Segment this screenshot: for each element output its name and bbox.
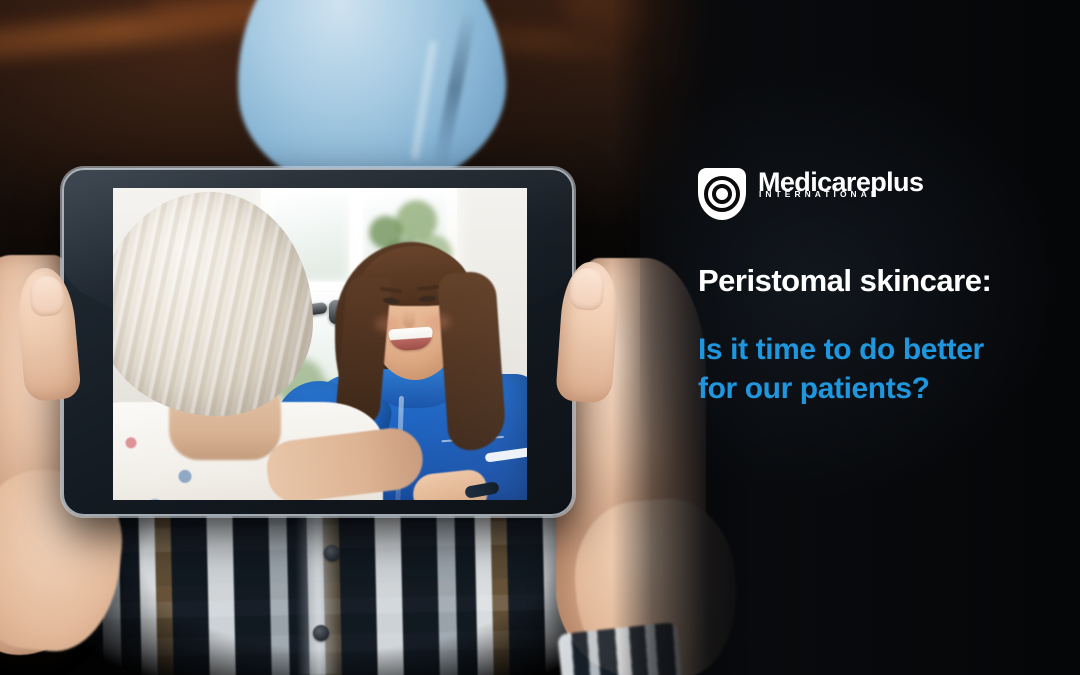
logo-outer-ring: [704, 176, 740, 212]
shirt-button: [313, 625, 329, 641]
shirt-button: [324, 545, 340, 561]
right-thumbnail: [568, 267, 606, 312]
video-call-scene: [113, 188, 527, 500]
nurse-hair-strand: [437, 270, 507, 452]
poster-canvas: Medicareplus INTERNATIONAL Peristomal sk…: [0, 0, 1080, 675]
logo-inner-ring: [712, 184, 732, 204]
subtitle-line-2: for our patients?: [698, 369, 1078, 408]
nurse-nose: [403, 310, 415, 328]
tablet-device[interactable]: [62, 168, 574, 516]
text-content-area: Medicareplus INTERNATIONAL Peristomal sk…: [690, 0, 1080, 675]
page-subtitle: Is it time to do better for our patients…: [698, 330, 1078, 408]
page-title: Peristomal skincare:: [698, 264, 1076, 299]
tablet-screen[interactable]: [113, 188, 527, 500]
subtitle-line-1: Is it time to do better: [698, 330, 1078, 369]
brand-logo-lockup[interactable]: Medicareplus INTERNATIONAL: [698, 168, 923, 220]
concentric-rings-shield-icon: [698, 168, 746, 220]
brand-wordmark: Medicareplus INTERNATIONAL: [758, 168, 923, 197]
brand-tagline: INTERNATIONAL: [759, 189, 880, 199]
